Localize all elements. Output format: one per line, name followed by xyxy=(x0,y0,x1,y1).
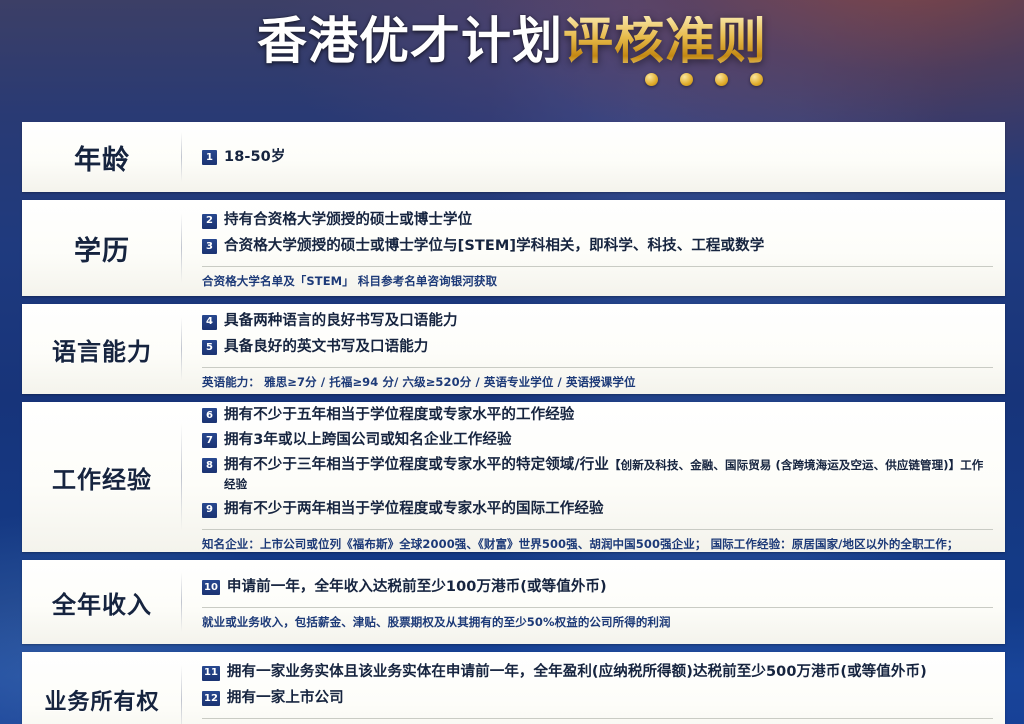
item-text: 申请前一年，全年收入达税前至少100万港币(或等值外币) xyxy=(227,578,607,597)
poster-header: 香港优才计划评核准则 xyxy=(0,0,1024,122)
list-item: 12 拥有一家上市公司 xyxy=(202,689,993,708)
dot-icon xyxy=(715,73,728,86)
row-category: 业务所有权 xyxy=(22,652,182,724)
table-row: 业务所有权 11 拥有一家业务实体且该业务实体在申请前一年，全年盈利(应纳税所得… xyxy=(22,652,1005,724)
dot-icon xyxy=(750,73,763,86)
item-number-badge: 9 xyxy=(202,503,217,518)
item-number-badge: 2 xyxy=(202,214,217,229)
table-row: 语言能力 4 具备两种语言的良好书写及口语能力 5 具备良好的英文书写及口语能力… xyxy=(22,304,1005,394)
table-row: 年龄 1 18-50岁 xyxy=(22,122,1005,192)
item-text: 18-50岁 xyxy=(224,148,285,167)
category-label: 语言能力 xyxy=(52,332,152,367)
title-secondary: 评核准则 xyxy=(563,16,767,66)
list-item: 6 拥有不少于五年相当于学位程度或专家水平的工作经验 xyxy=(202,406,993,425)
category-label: 年龄 xyxy=(74,138,130,177)
row-category: 年龄 xyxy=(22,122,182,192)
row-category: 工作经验 xyxy=(22,402,182,552)
dot-icon xyxy=(645,73,658,86)
item-text-main: 拥有不少于三年相当于学位程度或专家水平的特定领域/行业 xyxy=(224,457,609,473)
item-text: 拥有一家业务实体且该业务实体在申请前一年，全年盈利(应纳税所得额)达税前至少50… xyxy=(227,663,927,682)
category-label: 业务所有权 xyxy=(44,684,159,716)
title-wrap: 香港优才计划评核准则 xyxy=(257,16,767,66)
item-number-badge: 3 xyxy=(202,239,217,254)
item-text: 拥有不少于两年相当于学位程度或专家水平的国际工作经验 xyxy=(224,500,604,519)
item-text: 持有合资格大学颁授的硕士或博士学位 xyxy=(224,211,472,230)
table-row: 工作经验 6 拥有不少于五年相当于学位程度或专家水平的工作经验 7 拥有3年或以… xyxy=(22,402,1005,552)
item-text: 具备良好的英文书写及口语能力 xyxy=(224,338,428,357)
item-number-badge: 7 xyxy=(202,433,217,448)
item-text: 拥有3年或以上跨国公司或知名企业工作经验 xyxy=(224,431,512,450)
item-number-badge: 6 xyxy=(202,408,217,423)
row-category: 语言能力 xyxy=(22,304,182,394)
title-primary: 香港优才计划 xyxy=(257,16,563,66)
list-item: 7 拥有3年或以上跨国公司或知名企业工作经验 xyxy=(202,431,993,450)
item-number-badge: 4 xyxy=(202,315,217,330)
row-content: 6 拥有不少于五年相当于学位程度或专家水平的工作经验 7 拥有3年或以上跨国公司… xyxy=(182,402,1005,552)
row-content: 10 申请前一年，全年收入达税前至少100万港币(或等值外币) 就业或业务收入，… xyxy=(182,560,1005,644)
list-item: 5 具备良好的英文书写及口语能力 xyxy=(202,338,993,357)
row-footnote: 英语能力： 雅思≥7分 / 托福≥94 分/ 六级≥520分 / 英语专业学位 … xyxy=(202,367,993,390)
table-row: 全年收入 10 申请前一年，全年收入达税前至少100万港币(或等值外币) 就业或… xyxy=(22,560,1005,644)
row-content: 4 具备两种语言的良好书写及口语能力 5 具备良好的英文书写及口语能力 英语能力… xyxy=(182,304,1005,394)
list-item: 1 18-50岁 xyxy=(202,148,993,167)
list-item: 10 申请前一年，全年收入达税前至少100万港币(或等值外币) xyxy=(202,578,993,597)
row-footnote: 知名企业：上市公司或位列《福布斯》全球2000强、《财富》世界500强、胡润中国… xyxy=(202,529,993,552)
item-number-badge: 12 xyxy=(202,691,220,706)
row-content: 11 拥有一家业务实体且该业务实体在申请前一年，全年盈利(应纳税所得额)达税前至… xyxy=(182,652,1005,724)
criteria-table: 年龄 1 18-50岁 学历 2 持有合资格大学颁授的硕士或博士学位 3 xyxy=(22,122,1005,724)
list-item: 3 合资格大学颁授的硕士或博士学位与[STEM]学科相关，即科学、科技、工程或数… xyxy=(202,237,993,256)
dot-icon xyxy=(680,73,693,86)
list-item: 11 拥有一家业务实体且该业务实体在申请前一年，全年盈利(应纳税所得额)达税前至… xyxy=(202,663,993,682)
row-footnote: 就业或业务收入，包括薪金、津贴、股票期权及从其拥有的至少50%权益的公司所得的利… xyxy=(202,607,993,630)
item-number-badge: 5 xyxy=(202,340,217,355)
category-label: 全年收入 xyxy=(52,585,152,620)
item-number-badge: 11 xyxy=(202,666,220,681)
row-category: 学历 xyxy=(22,200,182,296)
item-number-badge: 1 xyxy=(202,150,217,165)
item-text: 合资格大学颁授的硕士或博士学位与[STEM]学科相关，即科学、科技、工程或数学 xyxy=(224,237,764,256)
row-category: 全年收入 xyxy=(22,560,182,644)
item-text: 拥有不少于三年相当于学位程度或专家水平的特定领域/行业【创新及科技、金融、国际贸… xyxy=(224,456,993,494)
row-content: 2 持有合资格大学颁授的硕士或博士学位 3 合资格大学颁授的硕士或博士学位与[S… xyxy=(182,200,1005,296)
table-row: 学历 2 持有合资格大学颁授的硕士或博士学位 3 合资格大学颁授的硕士或博士学位… xyxy=(22,200,1005,296)
list-item: 9 拥有不少于两年相当于学位程度或专家水平的国际工作经验 xyxy=(202,500,993,519)
row-footnote: 非上市公司持股比例需50%或以上，上市公司持股比例需10%或以上 xyxy=(202,718,993,724)
row-content: 1 18-50岁 xyxy=(182,122,1005,192)
item-number-badge: 8 xyxy=(202,458,217,473)
item-number-badge: 10 xyxy=(202,580,220,595)
category-label: 工作经验 xyxy=(52,460,152,495)
list-item: 4 具备两种语言的良好书写及口语能力 xyxy=(202,312,993,331)
item-text: 拥有一家上市公司 xyxy=(227,689,344,708)
item-text: 具备两种语言的良好书写及口语能力 xyxy=(224,312,458,331)
category-label: 学历 xyxy=(74,229,130,268)
list-item: 8 拥有不少于三年相当于学位程度或专家水平的特定领域/行业【创新及科技、金融、国… xyxy=(202,456,993,494)
row-footnote: 合资格大学名单及「STEM」 科目参考名单咨询银河获取 xyxy=(202,266,993,289)
list-item: 2 持有合资格大学颁授的硕士或博士学位 xyxy=(202,211,993,230)
decorative-dots xyxy=(645,73,763,86)
poster-background: 香港优才计划评核准则 年龄 1 18-50岁 xyxy=(0,0,1024,724)
item-text: 拥有不少于五年相当于学位程度或专家水平的工作经验 xyxy=(224,406,574,425)
